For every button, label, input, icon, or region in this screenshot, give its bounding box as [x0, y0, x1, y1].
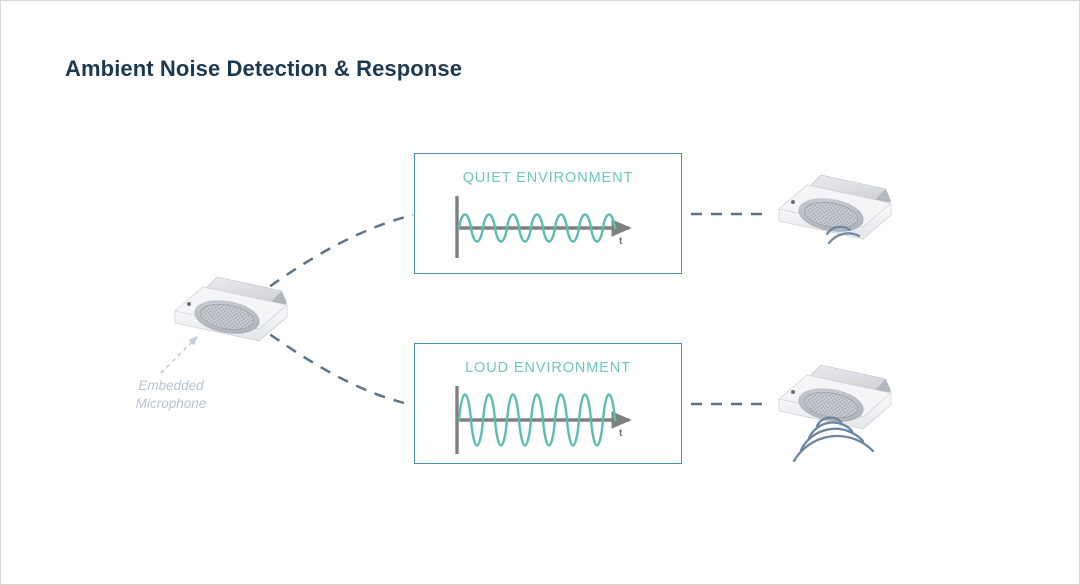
sound-wave-arcs-loud — [794, 418, 873, 461]
embedded-microphone-label: Embedded Microphone — [111, 377, 231, 413]
connector-source-to-loud — [254, 323, 413, 405]
waveform-quiet-axis-label: t — [619, 236, 623, 247]
connector-source-to-quiet — [254, 215, 413, 298]
ceiling-sensor-source — [171, 277, 287, 341]
microphone-pointer-arrow — [161, 337, 197, 373]
diagram-canvas: Ambient Noise Detection & Response — [0, 0, 1080, 585]
panel-quiet-label: QUIET ENVIRONMENT — [415, 170, 681, 186]
page-title: Ambient Noise Detection & Response — [65, 56, 462, 82]
waveform-loud: t — [449, 382, 651, 458]
ceiling-speaker-quiet — [779, 175, 891, 239]
panel-quiet-environment[interactable]: QUIET ENVIRONMENT t — [414, 153, 682, 274]
panel-loud-environment[interactable]: LOUD ENVIRONMENT t — [414, 343, 682, 464]
microphone-label-line2: Microphone — [111, 395, 231, 413]
panel-loud-label: LOUD ENVIRONMENT — [415, 360, 681, 376]
connector-layer — [1, 1, 1080, 585]
waveform-loud-axis-label: t — [619, 428, 623, 439]
waveform-quiet: t — [449, 192, 651, 264]
ceiling-speaker-loud — [779, 365, 891, 429]
sound-wave-arcs-quiet — [827, 227, 859, 243]
microphone-label-line1: Embedded — [111, 377, 231, 395]
